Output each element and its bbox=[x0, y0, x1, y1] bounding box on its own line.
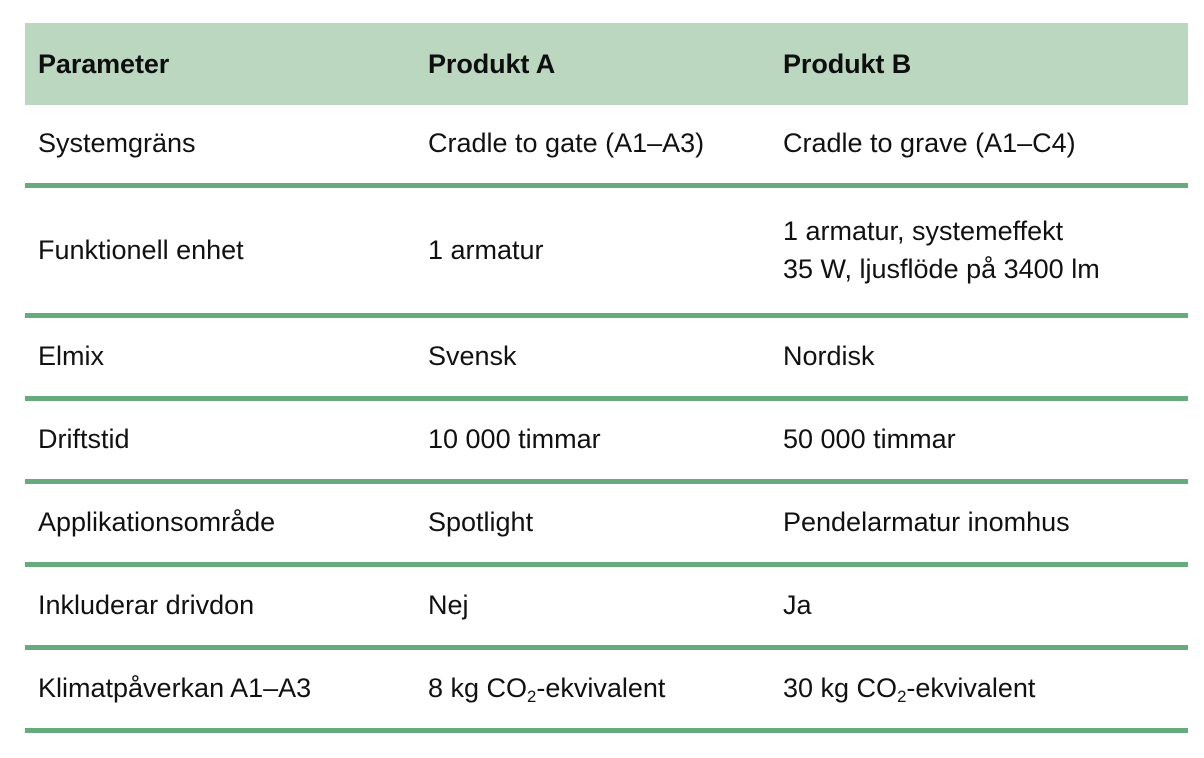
cell-produkt-a-klimatpaverkan: 8 kg CO2-ekvivalent bbox=[415, 648, 770, 731]
co2-subscript: 2 bbox=[897, 687, 906, 706]
cell-parameter-inkluderar-drivdon: Inkluderar drivdon bbox=[25, 565, 415, 648]
column-header-parameter: Parameter bbox=[25, 23, 415, 105]
cell-produkt-a-driftstid: 10 000 timmar bbox=[415, 399, 770, 482]
cell-parameter-driftstid: Driftstid bbox=[25, 399, 415, 482]
cell-text-line-2: 35 W, ljusflöde på 3400 lm bbox=[783, 251, 1178, 288]
table-row-driftstid: Driftstid 10 000 timmar 50 000 timmar bbox=[25, 399, 1188, 482]
cell-produkt-a-applikationsomrade: Spotlight bbox=[415, 482, 770, 565]
cell-produkt-a-systemgrans: Cradle to gate (A1–A3) bbox=[415, 105, 770, 186]
table-row-systemgrans: Systemgräns Cradle to gate (A1–A3) Cradl… bbox=[25, 105, 1188, 186]
cell-parameter-klimatpaverkan: Klimatpåverkan A1–A3 bbox=[25, 648, 415, 731]
co2-value-suffix: -ekvivalent bbox=[536, 673, 665, 703]
comparison-table-container: Parameter Produkt A Produkt B Systemgrän… bbox=[25, 23, 1188, 733]
cell-produkt-b-elmix: Nordisk bbox=[770, 316, 1188, 399]
column-header-produkt-a: Produkt A bbox=[415, 23, 770, 105]
cell-produkt-b-driftstid: 50 000 timmar bbox=[770, 399, 1188, 482]
cell-parameter-funktionell-enhet: Funktionell enhet bbox=[25, 186, 415, 316]
table-body: Systemgräns Cradle to gate (A1–A3) Cradl… bbox=[25, 105, 1188, 731]
cell-parameter-applikationsomrade: Applikationsområde bbox=[25, 482, 415, 565]
co2-subscript: 2 bbox=[527, 687, 536, 706]
table-row-funktionell-enhet: Funktionell enhet 1 armatur 1 armatur, s… bbox=[25, 186, 1188, 316]
table-row-applikationsomrade: Applikationsområde Spotlight Pendelarmat… bbox=[25, 482, 1188, 565]
column-header-produkt-b: Produkt B bbox=[770, 23, 1188, 105]
table-header: Parameter Produkt A Produkt B bbox=[25, 23, 1188, 105]
co2-value-prefix: 30 kg CO bbox=[783, 673, 897, 703]
table-row-inkluderar-drivdon: Inkluderar drivdon Nej Ja bbox=[25, 565, 1188, 648]
cell-produkt-b-inkluderar-drivdon: Ja bbox=[770, 565, 1188, 648]
cell-text-line-1: 1 armatur, systemeffekt bbox=[783, 213, 1178, 250]
co2-value-prefix: 8 kg CO bbox=[428, 673, 527, 703]
cell-produkt-b-funktionell-enhet: 1 armatur, systemeffekt 35 W, ljusflöde … bbox=[770, 186, 1188, 316]
header-row: Parameter Produkt A Produkt B bbox=[25, 23, 1188, 105]
cell-produkt-b-klimatpaverkan: 30 kg CO2-ekvivalent bbox=[770, 648, 1188, 731]
cell-parameter-elmix: Elmix bbox=[25, 316, 415, 399]
cell-parameter-systemgrans: Systemgräns bbox=[25, 105, 415, 186]
cell-produkt-a-funktionell-enhet: 1 armatur bbox=[415, 186, 770, 316]
cell-produkt-b-applikationsomrade: Pendelarmatur inomhus bbox=[770, 482, 1188, 565]
cell-produkt-a-elmix: Svensk bbox=[415, 316, 770, 399]
cell-produkt-b-systemgrans: Cradle to grave (A1–C4) bbox=[770, 105, 1188, 186]
table-row-elmix: Elmix Svensk Nordisk bbox=[25, 316, 1188, 399]
lca-comparison-table: Parameter Produkt A Produkt B Systemgrän… bbox=[25, 23, 1188, 733]
cell-produkt-a-inkluderar-drivdon: Nej bbox=[415, 565, 770, 648]
co2-value-suffix: -ekvivalent bbox=[906, 673, 1035, 703]
table-row-klimatpaverkan: Klimatpåverkan A1–A3 8 kg CO2-ekvivalent… bbox=[25, 648, 1188, 731]
